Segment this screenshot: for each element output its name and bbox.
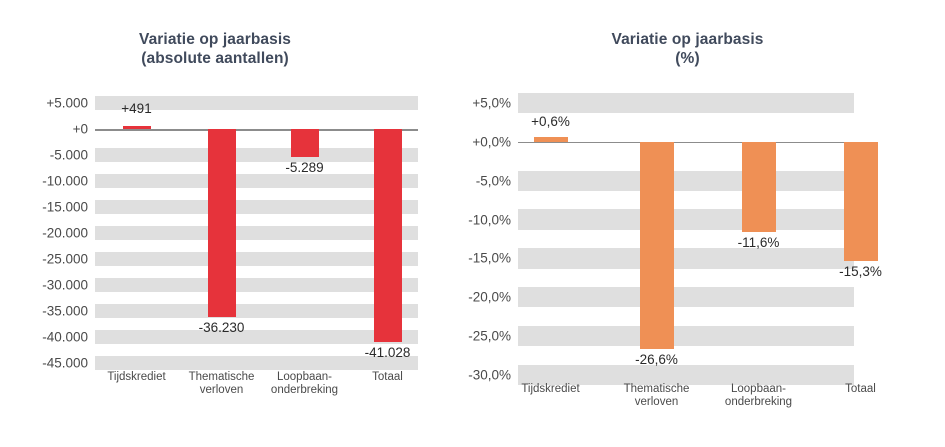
chart-title-percent: Variatie op jaarbasis (%)	[430, 30, 945, 68]
grid-band	[95, 174, 418, 188]
y-axis-tick-label: -10,0%	[430, 213, 511, 227]
x-axis-category-label-line: verloven	[624, 396, 690, 409]
x-axis-category-label-line: Thematische	[624, 383, 690, 396]
data-label: -5.289	[285, 161, 323, 175]
grid-band	[95, 252, 418, 266]
y-axis-tick-label: +5,0%	[430, 96, 511, 110]
grid-band	[95, 278, 418, 292]
x-axis-category-label-line: verloven	[189, 384, 255, 397]
x-axis-category-label: Thematischeverloven	[189, 371, 255, 397]
y-axis-tick-label: -20,0%	[430, 291, 511, 305]
data-label: -26,6%	[635, 353, 678, 367]
x-axis-category-label: Loopbaan-onderbreking	[725, 383, 792, 409]
x-axis-category-label-line: onderbreking	[271, 384, 338, 397]
data-label: -15,3%	[839, 265, 882, 279]
chart-title-absolute: Variatie op jaarbasis (absolute aantalle…	[0, 30, 430, 68]
x-axis-category-label-line: Loopbaan-	[725, 383, 792, 396]
chart-title-line-2: (absolute aantallen)	[0, 49, 430, 68]
x-axis-category-label-line: Totaal	[372, 371, 403, 384]
grid-band	[95, 200, 418, 214]
grid-band	[95, 148, 418, 162]
grid-band	[518, 209, 854, 229]
data-label: -41.028	[365, 346, 411, 360]
grid-band	[95, 226, 418, 240]
y-axis-tick-label: -5.000	[0, 148, 88, 162]
y-axis-tick-label: -30,0%	[430, 368, 511, 382]
y-axis-tick-label: +0	[0, 122, 88, 136]
grid-band	[518, 326, 854, 346]
bar-thematische-verloven	[640, 142, 674, 349]
x-axis-category-label-line: Tijdskrediet	[107, 371, 165, 384]
x-axis-category-label-line: Tijdskrediet	[521, 383, 579, 396]
data-label: +491	[121, 102, 151, 116]
y-axis-tick-label: -35.000	[0, 304, 88, 318]
plot-area-percent	[518, 84, 854, 395]
y-axis-tick-label: -45.000	[0, 356, 88, 370]
y-axis-tick-label: -20.000	[0, 226, 88, 240]
chart-panel-percent: Variatie op jaarbasis (%) +5,0%+0,0%-5,0…	[430, 0, 945, 447]
x-axis-category-label: Tijdskrediet	[521, 383, 579, 396]
y-axis-tick-label: -15.000	[0, 200, 88, 214]
x-axis-category-label: Loopbaan-onderbreking	[271, 371, 338, 397]
y-axis-tick-label: +5.000	[0, 96, 88, 110]
x-axis-category-label: Thematischeverloven	[624, 383, 690, 409]
grid-band	[518, 248, 854, 268]
y-axis-tick-label: +0,0%	[430, 135, 511, 149]
x-axis-category-label: Tijdskrediet	[107, 371, 165, 384]
bar-loopbaan-onderbreking	[291, 129, 319, 157]
y-axis-tick-label: -30.000	[0, 278, 88, 292]
grid-band	[518, 171, 854, 191]
y-axis-tick-label: -25,0%	[430, 329, 511, 343]
y-axis-tick-label: -10.000	[0, 174, 88, 188]
chart-pair: Variatie op jaarbasis (absolute aantalle…	[0, 0, 945, 447]
data-label: -36.230	[199, 321, 245, 335]
bar-tijdskrediet	[123, 126, 151, 129]
y-axis-tick-label: -15,0%	[430, 252, 511, 266]
zero-line-percent	[518, 142, 854, 144]
x-axis-category-label-line: onderbreking	[725, 396, 792, 409]
plot-area-absolute	[95, 90, 418, 376]
bar-loopbaan-onderbreking	[742, 142, 776, 232]
data-label: +0,6%	[531, 115, 570, 129]
chart-panel-absolute: Variatie op jaarbasis (absolute aantalle…	[0, 0, 430, 447]
grid-band	[95, 304, 418, 318]
grid-band	[518, 287, 854, 307]
bar-tijdskrediet	[534, 137, 568, 142]
x-axis-category-label-line: Totaal	[845, 383, 876, 396]
y-axis-tick-label: -40.000	[0, 330, 88, 344]
x-axis-category-label-line: Thematische	[189, 371, 255, 384]
bar-thematische-verloven	[208, 129, 236, 317]
chart-title-line-1: Variatie op jaarbasis	[430, 30, 945, 49]
x-axis-category-label: Totaal	[845, 383, 876, 396]
y-axis-tick-label: -5,0%	[430, 174, 511, 188]
bar-totaal	[374, 129, 402, 342]
chart-title-line-1: Variatie op jaarbasis	[0, 30, 430, 49]
grid-band	[95, 330, 418, 344]
x-axis-category-label-line: Loopbaan-	[271, 371, 338, 384]
chart-title-line-2: (%)	[430, 49, 945, 68]
grid-bands-absolute	[95, 90, 418, 376]
x-axis-category-label: Totaal	[372, 371, 403, 384]
data-label: -11,6%	[738, 236, 780, 250]
grid-bands-percent	[518, 84, 854, 395]
grid-band	[518, 93, 854, 113]
bar-totaal	[844, 142, 878, 261]
y-axis-tick-label: -25.000	[0, 252, 88, 266]
